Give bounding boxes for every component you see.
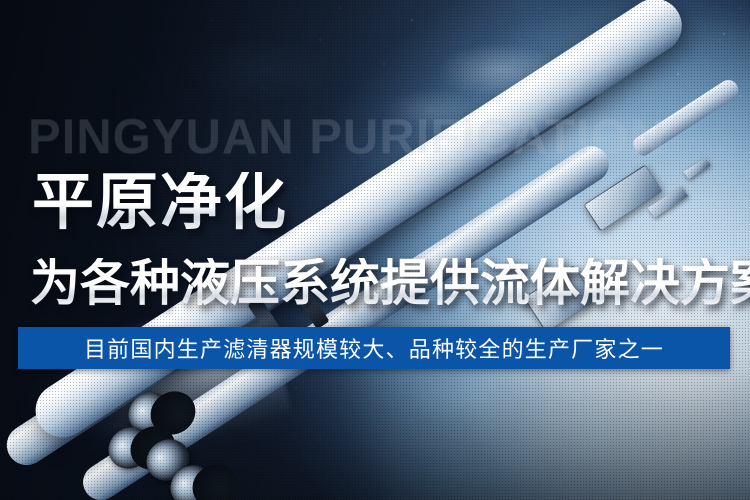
tagline-text: 目前国内生产滤清器规模较大、品种较全的生产厂家之一 [18, 327, 730, 369]
hero-banner: PINGYUAN PURIFICATION 平原净化 为各种液压系统提供流体解决… [0, 0, 750, 500]
watermark-pinyin-text: PINGYUAN PURIFICATION [28, 113, 750, 162]
tagline-bar: 目前国内生产滤清器规模较大、品种较全的生产厂家之一 [18, 327, 730, 369]
halftone-dot-overlay [0, 0, 750, 500]
page-title: 平原净化 [32, 172, 288, 234]
page-subtitle: 为各种液压系统提供流体解决方案 [30, 258, 750, 308]
